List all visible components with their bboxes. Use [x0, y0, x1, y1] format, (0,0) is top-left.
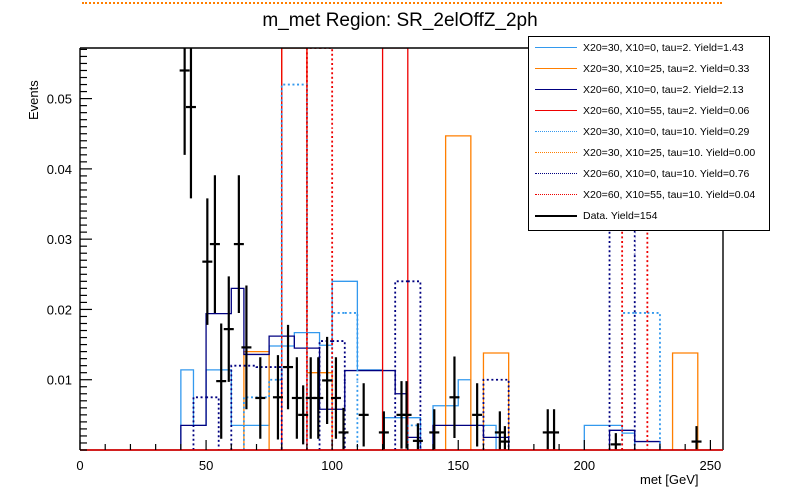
- legend-swatch-0: [529, 37, 583, 58]
- legend-item-4[interactable]: X20=30, X10=0, tau=10. Yield=0.29: [529, 121, 769, 142]
- x-tick-label-200: 200: [573, 458, 595, 473]
- legend-swatch-7: [529, 184, 583, 205]
- x-tick-label-50: 50: [199, 458, 213, 473]
- y-tick-label-2: 0.03: [47, 232, 72, 247]
- legend-swatch-8: [529, 205, 583, 226]
- legend-item-6[interactable]: X20=60, X10=0, tau=10. Yield=0.76: [529, 163, 769, 184]
- y-axis-label: Events: [26, 80, 41, 120]
- y-tick-label-3: 0.04: [47, 162, 72, 177]
- series-step-1: [673, 353, 698, 450]
- legend-label-5: X20=30, X10=25, tau=10. Yield=0.00: [583, 147, 755, 159]
- legend-label-1: X20=30, X10=25, tau=2. Yield=0.33: [583, 63, 749, 75]
- legend-label-8: Data. Yield=154: [583, 210, 657, 222]
- legend-item-2[interactable]: X20=60, X10=0, tau=2. Yield=2.13: [529, 79, 769, 100]
- legend-item-0[interactable]: X20=30, X10=0, tau=2. Yield=1.43: [529, 37, 769, 58]
- legend-swatch-2: [529, 79, 583, 100]
- legend-swatch-1: [529, 58, 583, 79]
- y-tick-label-0: 0.01: [47, 373, 72, 388]
- series-step-4: [622, 313, 660, 450]
- legend-swatch-6: [529, 163, 583, 184]
- legend-item-8[interactable]: Data. Yield=154: [529, 205, 769, 226]
- legend-swatch-3: [529, 100, 583, 121]
- legend-swatch-5: [529, 142, 583, 163]
- legend: X20=30, X10=0, tau=2. Yield=1.43X20=30, …: [528, 36, 770, 231]
- series-step-6: [231, 366, 281, 450]
- legend-swatch-4: [529, 121, 583, 142]
- legend-label-0: X20=30, X10=0, tau=2. Yield=1.43: [583, 42, 744, 54]
- legend-label-4: X20=30, X10=0, tau=10. Yield=0.29: [583, 126, 749, 138]
- x-tick-label-0: 0: [76, 458, 83, 473]
- legend-item-7[interactable]: X20=60, X10=55, tau=10. Yield=0.04: [529, 184, 769, 205]
- y-tick-label-1: 0.02: [47, 302, 72, 317]
- legend-label-2: X20=60, X10=0, tau=2. Yield=2.13: [583, 84, 744, 96]
- x-tick-label-150: 150: [447, 458, 469, 473]
- x-axis-label: met [GeV]: [640, 472, 699, 487]
- x-tick-label-250: 250: [700, 458, 722, 473]
- legend-item-5[interactable]: X20=30, X10=25, tau=10. Yield=0.00: [529, 142, 769, 163]
- y-tick-label-4: 0.05: [47, 92, 72, 107]
- legend-item-3[interactable]: X20=60, X10=55, tau=2. Yield=0.06: [529, 100, 769, 121]
- legend-item-1[interactable]: X20=30, X10=25, tau=2. Yield=0.33: [529, 58, 769, 79]
- legend-label-6: X20=60, X10=0, tau=10. Yield=0.76: [583, 168, 749, 180]
- x-tick-label-100: 100: [321, 458, 343, 473]
- legend-label-3: X20=60, X10=55, tau=2. Yield=0.06: [583, 105, 749, 117]
- legend-label-7: X20=60, X10=55, tau=10. Yield=0.04: [583, 189, 755, 201]
- plot-canvas: m_met Region: SR_2elOffZ_2ph 05010015020…: [0, 0, 800, 500]
